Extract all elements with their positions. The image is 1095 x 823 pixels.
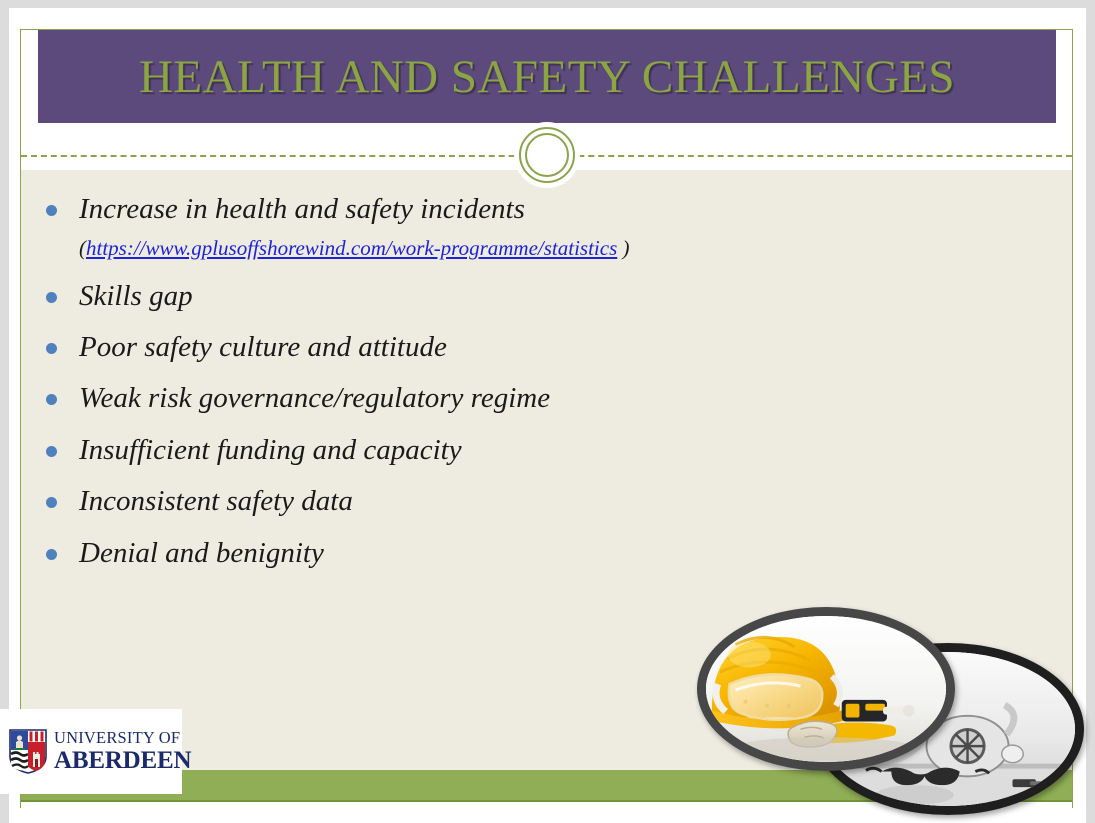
bullet-text: Denial and benignity (79, 536, 1006, 571)
page-edge-left (0, 0, 9, 823)
bullet-text: Weak risk governance/regulatory regime (79, 381, 1006, 416)
slide-canvas: Health and Safety Challenges Increase in… (0, 0, 1095, 823)
list-item: Poor safety culture and attitude (46, 330, 1006, 365)
bullet-dot-icon (46, 292, 57, 303)
bullet-dot-icon (46, 205, 57, 216)
bullet-text: Poor safety culture and attitude (79, 330, 1006, 365)
bullet-dot-icon (46, 549, 57, 560)
paren-open: ( (79, 236, 86, 260)
bullet-text: Increase in health and safety incidents (79, 192, 1006, 227)
list-item: Skills gap (46, 279, 1006, 314)
bullet-text: Insufficient funding and capacity (79, 433, 1006, 468)
list-item: Weak risk governance/regulatory regime (46, 381, 1006, 416)
university-logo: UNIVERSITY OF ABERDEEN (0, 709, 182, 794)
bullet-dot-icon (46, 446, 57, 457)
bullet-text: Inconsistent safety data (79, 484, 1006, 519)
ppe-color-illustration-icon (706, 616, 946, 762)
slide-title: Health and Safety Challenges (139, 50, 955, 104)
list-item: Denial and benignity (46, 536, 1006, 571)
bullet-dot-icon (46, 394, 57, 405)
double-ring-ornament-inner-icon (525, 133, 569, 177)
bullet-sub-line: (https://www.gplusoffshorewind.com/work-… (79, 235, 1006, 262)
ppe-equipment-photo-color (697, 607, 955, 771)
list-item: Inconsistent safety data (46, 484, 1006, 519)
logo-line-university-of: UNIVERSITY OF (54, 730, 191, 747)
page-edge-right (1086, 0, 1095, 823)
bullet-dot-icon (46, 343, 57, 354)
bullet-dot-icon (46, 497, 57, 508)
page-edge-top (0, 0, 1095, 8)
statistics-hyperlink[interactable]: https://www.gplusoffshorewind.com/work-p… (86, 236, 617, 260)
bullet-text: Skills gap (79, 279, 1006, 314)
title-banner: Health and Safety Challenges (38, 30, 1056, 123)
paren-close: ) (617, 236, 629, 260)
bullet-list: Increase in health and safety incidents … (46, 192, 1006, 587)
list-item: Increase in health and safety incidents … (46, 192, 1006, 263)
logo-line-aberdeen: ABERDEEN (54, 748, 191, 773)
university-crest-icon (9, 729, 47, 774)
list-item: Insufficient funding and capacity (46, 433, 1006, 468)
